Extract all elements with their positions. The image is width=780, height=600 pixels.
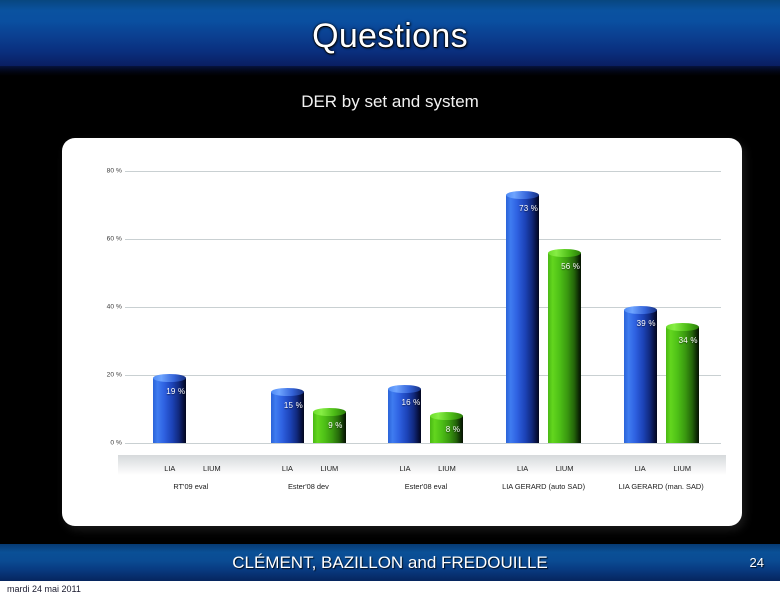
category-label: LIA GERARD (auto SAD)	[502, 482, 585, 491]
bar-lia[interactable]: 19 %LIA	[153, 153, 186, 475]
page-title: Questions	[0, 17, 780, 56]
footer-authors: CLÉMENT, BAZILLON and FREDOUILLE	[0, 553, 780, 573]
bar-value-label: 8 %	[436, 425, 469, 434]
category-label: RT'09 eval	[173, 482, 208, 491]
date-bar: mardi 24 mai 2011	[0, 581, 780, 600]
category-label: LIA GERARD (man. SAD)	[619, 482, 704, 491]
bar-rect[interactable]: 56 %	[548, 253, 581, 443]
y-axis-tick: 60 %	[96, 236, 122, 243]
slide-header: Questions	[0, 0, 780, 76]
series-tick-label: LIUM	[548, 464, 581, 473]
bar-face	[271, 392, 304, 443]
bar-value-label: 19 %	[159, 387, 192, 396]
chart-panel: 0 %20 %40 %60 %80 % 19 %LIALIUMRT'09 eva…	[62, 138, 742, 526]
y-axis-tick: 20 %	[96, 372, 122, 379]
chart-caption: DER by set and system	[0, 92, 780, 112]
bar-value-label: 39 %	[630, 319, 663, 328]
series-tick-label: LIA	[388, 464, 421, 473]
bar-group: 19 %LIALIUMRT'09 eval	[132, 153, 250, 475]
date-text: mardi 24 mai 2011	[7, 584, 81, 594]
bar-face	[624, 310, 657, 443]
bar-group: 73 %LIA56 %LIUMLIA GERARD (auto SAD)	[485, 153, 603, 475]
bar-group: 16 %LIA8 %LIUMEster'08 eval	[367, 153, 485, 475]
bar-lia[interactable]: 73 %LIA	[506, 153, 539, 475]
y-axis-tick: 80 %	[96, 168, 122, 175]
bar-rect[interactable]: 8 %	[430, 416, 463, 443]
bar-rect[interactable]: 15 %	[271, 392, 304, 443]
bar-value-label: 34 %	[672, 336, 705, 345]
series-tick-label: LIUM	[666, 464, 699, 473]
chart-bars: 19 %LIALIUMRT'09 eval15 %LIA9 %LIUMEster…	[132, 153, 720, 475]
bar-top-cap	[548, 249, 581, 257]
series-tick-label: LIUM	[430, 464, 463, 473]
bar-rect[interactable]: 19 %	[153, 378, 186, 443]
series-tick-label: LIA	[153, 464, 186, 473]
bar-value-label: 16 %	[394, 398, 427, 407]
bar-lium[interactable]: LIUM	[195, 153, 228, 475]
bar-lium[interactable]: 56 %LIUM	[548, 153, 581, 475]
bar-lia[interactable]: 16 %LIA	[388, 153, 421, 475]
slide-footer: CLÉMENT, BAZILLON and FREDOUILLE 24	[0, 543, 780, 581]
bar-rect[interactable]: 34 %	[666, 327, 699, 443]
bar-face	[506, 195, 539, 443]
bar-value-label: 56 %	[554, 262, 587, 271]
bar-group: 15 %LIA9 %LIUMEster'08 dev	[250, 153, 368, 475]
bar-value-label: 9 %	[319, 421, 352, 430]
series-tick-label: LIA	[506, 464, 539, 473]
bar-top-cap	[388, 385, 421, 393]
bar-top-cap	[430, 412, 463, 420]
bar-lium[interactable]: 8 %LIUM	[430, 153, 463, 475]
y-axis-tick: 40 %	[96, 304, 122, 311]
series-tick-label: LIA	[271, 464, 304, 473]
bar-top-cap	[506, 191, 539, 199]
slide: Questions DER by set and system 0 %20 %4…	[0, 0, 780, 600]
bar-lia[interactable]: 39 %LIA	[624, 153, 657, 475]
bar-face	[548, 253, 581, 443]
bar-rect[interactable]: 16 %	[388, 389, 421, 443]
bar-value-label: 15 %	[277, 401, 310, 410]
y-axis-tick: 0 %	[96, 440, 122, 447]
category-label: Ester'08 eval	[405, 482, 448, 491]
series-tick-label: LIA	[624, 464, 657, 473]
bar-rect[interactable]: 9 %	[313, 412, 346, 443]
bar-rect[interactable]: 73 %	[506, 195, 539, 443]
bar-lium[interactable]: 9 %LIUM	[313, 153, 346, 475]
page-number: 24	[750, 555, 764, 570]
bar-rect[interactable]: 39 %	[624, 310, 657, 443]
series-tick-label: LIUM	[313, 464, 346, 473]
category-label: Ester'08 dev	[288, 482, 329, 491]
series-tick-label: LIUM	[195, 464, 228, 473]
bar-top-cap	[271, 388, 304, 396]
bar-lia[interactable]: 15 %LIA	[271, 153, 304, 475]
bar-value-label: 73 %	[512, 204, 545, 213]
bar-group: 39 %LIA34 %LIUMLIA GERARD (man. SAD)	[602, 153, 720, 475]
bar-lium[interactable]: 34 %LIUM	[666, 153, 699, 475]
chart-plot-area: 0 %20 %40 %60 %80 % 19 %LIALIUMRT'09 eva…	[96, 153, 726, 475]
